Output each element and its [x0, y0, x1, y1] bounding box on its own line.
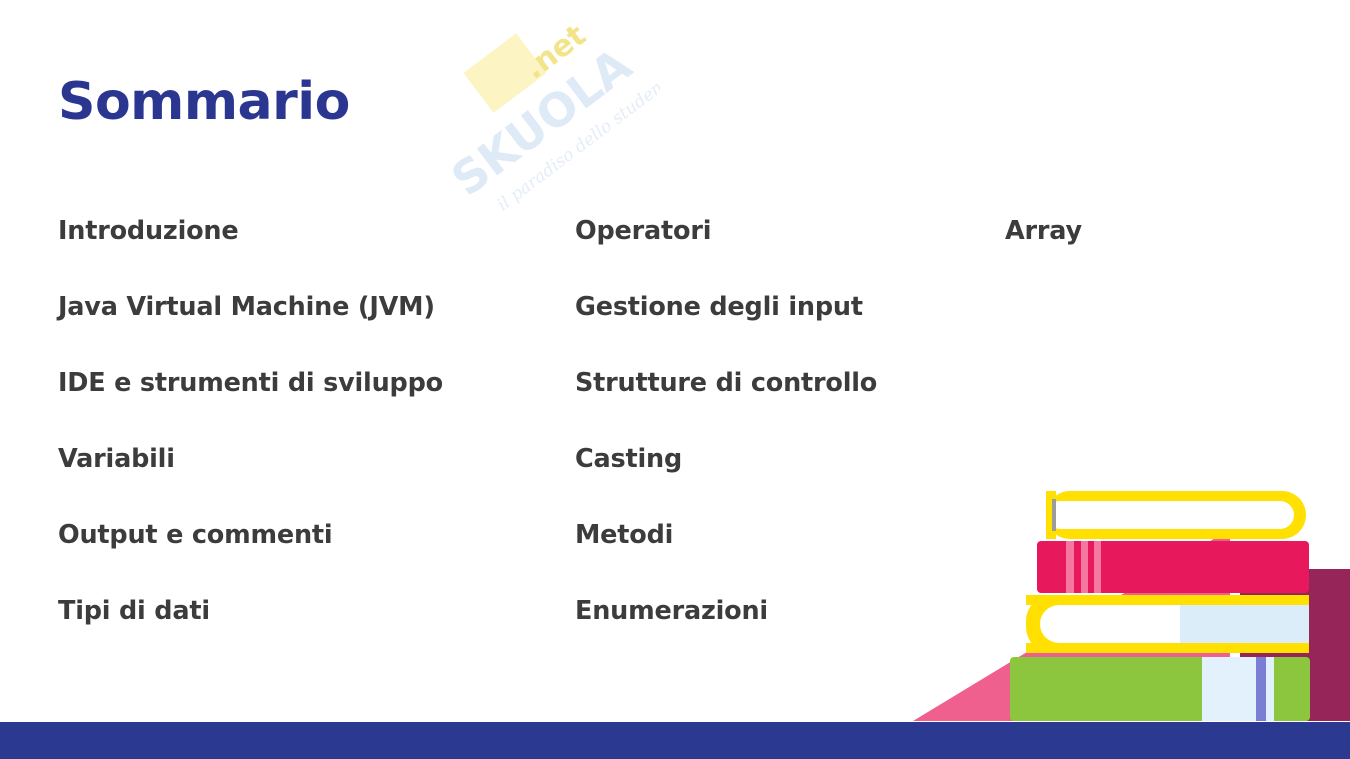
- list-item[interactable]: Tipi di dati: [58, 594, 558, 670]
- watermark-tagline-text: il paradiso dello studente: [494, 68, 660, 216]
- list-item[interactable]: Java Virtual Machine (JVM): [58, 290, 558, 366]
- list-item[interactable]: Strutture di controllo: [575, 366, 995, 442]
- list-item[interactable]: Gestione degli input: [575, 290, 995, 366]
- book-green: [1010, 657, 1310, 721]
- page-title: Sommario: [58, 72, 350, 132]
- watermark-tld-text: .net: [518, 18, 593, 86]
- book-yellow: [1026, 595, 1309, 653]
- footer-bar: [0, 722, 1350, 759]
- list-item[interactable]: Output e commenti: [58, 518, 558, 594]
- list-item[interactable]: Enumerazioni: [575, 594, 995, 670]
- summary-column-3: Array: [1005, 214, 1305, 290]
- book-crimson: [1037, 541, 1309, 593]
- list-item[interactable]: Variabili: [58, 442, 558, 518]
- list-item[interactable]: Metodi: [575, 518, 995, 594]
- book-top: [1046, 491, 1306, 539]
- summary-column-2: Operatori Gestione degli input Strutture…: [575, 214, 995, 670]
- slide-root: SKUOLA .net il paradiso dello studente S…: [0, 0, 1350, 759]
- list-item[interactable]: IDE e strumenti di sviluppo: [58, 366, 558, 442]
- summary-column-1: Introduzione Java Virtual Machine (JVM) …: [58, 214, 558, 670]
- list-item[interactable]: Casting: [575, 442, 995, 518]
- list-item[interactable]: Operatori: [575, 214, 995, 290]
- list-item[interactable]: Introduzione: [58, 214, 558, 290]
- watermark-brand-text: SKUOLA: [441, 37, 641, 206]
- list-item[interactable]: Array: [1005, 214, 1305, 290]
